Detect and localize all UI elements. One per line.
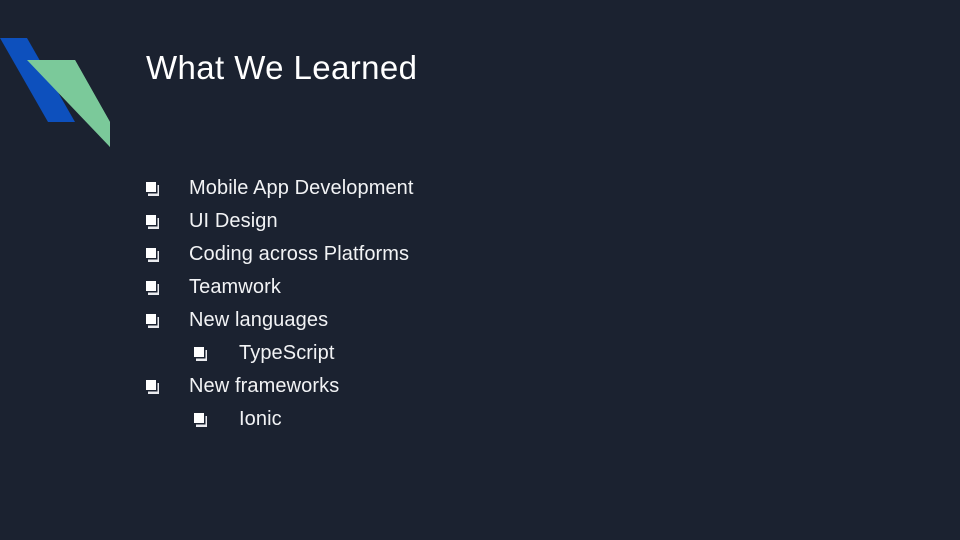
list-item-label: Teamwork <box>189 271 281 304</box>
blue-parallelogram <box>0 38 75 122</box>
green-parallelogram-body <box>27 60 110 147</box>
list-item-label: New languages <box>189 304 328 337</box>
box-bullet-icon <box>146 215 159 228</box>
bullet-list: Mobile App Development UI Design Coding … <box>146 172 886 436</box>
green-parallelogram <box>27 60 110 147</box>
list-item-label: Ionic <box>239 403 282 436</box>
presentation-slide: What We Learned Mobile App Development U… <box>0 0 960 540</box>
list-item: Ionic <box>146 403 886 436</box>
list-item: TypeScript <box>146 337 886 370</box>
list-item-label: Mobile App Development <box>189 172 414 205</box>
list-item-label: UI Design <box>189 205 278 238</box>
box-bullet-icon <box>194 347 207 360</box>
list-item: New frameworks <box>146 370 886 403</box>
list-item-label: TypeScript <box>239 337 334 370</box>
list-item: Teamwork <box>146 271 886 304</box>
box-bullet-icon <box>146 248 159 261</box>
page-title: What We Learned <box>146 47 417 89</box>
list-item: Coding across Platforms <box>146 238 886 271</box>
list-item-label: New frameworks <box>189 370 339 403</box>
box-bullet-icon <box>146 380 159 393</box>
corner-decoration <box>0 0 160 180</box>
list-item: New languages <box>146 304 886 337</box>
box-bullet-icon <box>146 281 159 294</box>
box-bullet-icon <box>146 182 159 195</box>
box-bullet-icon <box>146 314 159 327</box>
list-item: UI Design <box>146 205 886 238</box>
box-bullet-icon <box>194 413 207 426</box>
list-item-label: Coding across Platforms <box>189 238 409 271</box>
list-item: Mobile App Development <box>146 172 886 205</box>
